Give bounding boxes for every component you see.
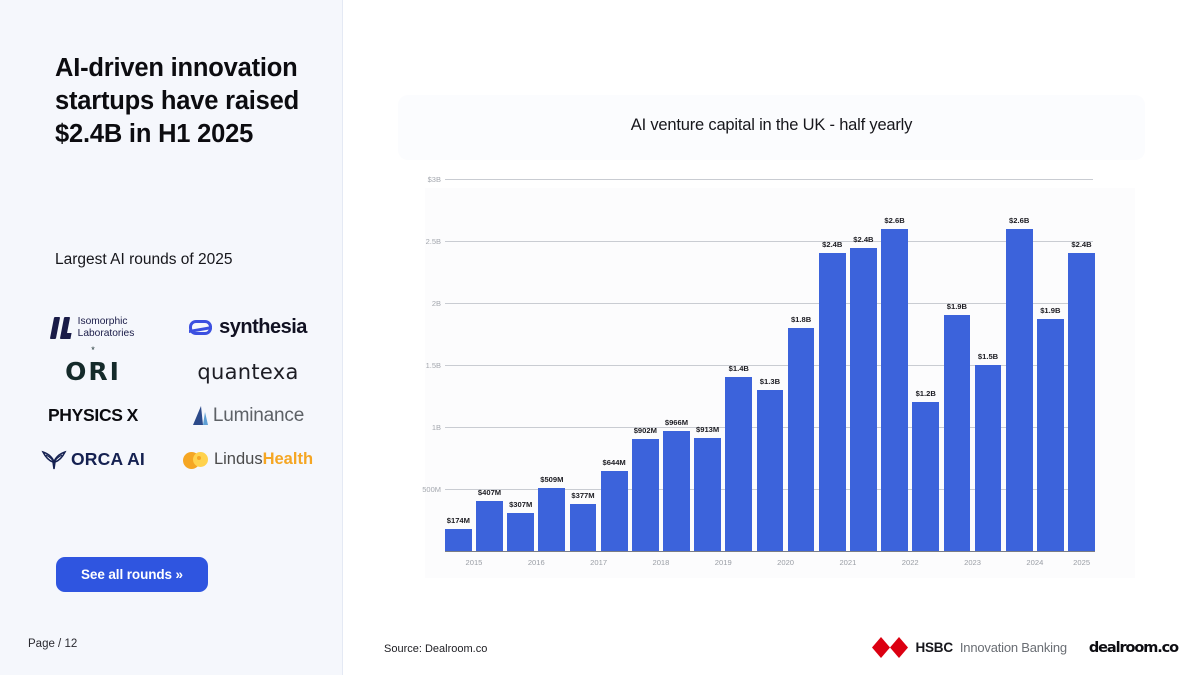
see-all-rounds-button[interactable]: See all rounds »	[56, 557, 208, 592]
orca-whale-tail-icon	[41, 449, 68, 471]
isomorphic-mark-icon	[52, 317, 71, 339]
bar-value-label: $1.9B	[1040, 306, 1060, 315]
y-axis-tick-label: $3B	[428, 175, 441, 184]
x-axis-labels: 2015201620172018201920202021202220232024…	[445, 558, 1095, 574]
bar-slot: $2.4B	[850, 179, 877, 551]
ori-wordmark: ORI	[65, 357, 121, 386]
bar-slot: $307M	[507, 179, 534, 551]
x-axis-tick-label: 2025	[1073, 558, 1090, 567]
x-axis-tick-label: 2016	[528, 558, 545, 567]
x-axis-tick-label: 2017	[590, 558, 607, 567]
slide-root: AI-driven innovation startups have raise…	[0, 0, 1200, 675]
luminance-wordmark: Luminance	[213, 405, 304, 427]
bar-value-label: $1.4B	[729, 364, 749, 373]
logo-quantexa[interactable]: quantexa	[168, 350, 328, 393]
bar-value-label: $1.2B	[916, 389, 936, 398]
bars-group: $174M$407M$307M$509M$377M$644M$902M$966M…	[445, 179, 1095, 551]
logo-hsbc-innovation-banking[interactable]: HSBC Innovation Banking	[872, 637, 1066, 658]
isomorphic-wordmark: Isomorphic Laboratories	[78, 316, 135, 339]
x-axis-tick-label: 2020	[777, 558, 794, 567]
logo-lindus-health[interactable]: LindusHealth	[168, 438, 328, 481]
orca-wordmark: ORCA AI	[71, 449, 145, 470]
bar-slot: $2.6B	[881, 179, 908, 551]
bar-value-label: $902M	[634, 426, 657, 435]
bar[interactable]	[944, 315, 971, 551]
bar-value-label: $644M	[603, 458, 626, 467]
x-axis-tick-label: 2021	[839, 558, 856, 567]
bar-slot: $2.4B	[819, 179, 846, 551]
bar-value-label: $966M	[665, 418, 688, 427]
bar-slot: $2.4B	[1068, 179, 1095, 551]
synthesia-mark-icon	[189, 320, 212, 335]
logo-dealroom[interactable]: dealroom.co	[1089, 640, 1178, 656]
bar[interactable]	[570, 504, 597, 551]
page-number: Page / 12	[28, 638, 77, 650]
physicsx-wordmark: PHYSICSX	[48, 405, 138, 426]
bar-slot: $1.9B	[944, 179, 971, 551]
footer-logos: HSBC Innovation Banking dealroom.co	[872, 637, 1178, 658]
isomorphic-line-2: Laboratories	[78, 328, 135, 339]
lindus-word-health: Health	[263, 450, 313, 469]
logo-physics-x[interactable]: PHYSICSX	[18, 394, 168, 437]
logo-isomorphic-laboratories[interactable]: Isomorphic Laboratories	[18, 306, 168, 349]
hsbc-hexagon-icon	[872, 637, 908, 658]
left-panel: AI-driven innovation startups have raise…	[0, 0, 343, 675]
y-axis-tick-label: 1B	[432, 423, 441, 432]
x-axis-tick-label: 2023	[964, 558, 981, 567]
ori-star-icon: *	[91, 345, 95, 355]
y-axis-tick-label: 2B	[432, 299, 441, 308]
bar-slot: $902M	[632, 179, 659, 551]
x-axis-tick-label: 2024	[1026, 558, 1043, 567]
bar-slot: $377M	[570, 179, 597, 551]
bar[interactable]	[819, 253, 846, 551]
y-axis-tick-label: 1.5B	[426, 361, 441, 370]
luminance-sail-icon	[192, 406, 209, 426]
bar-slot: $1.2B	[912, 179, 939, 551]
bar-chart[interactable]: 500M1B1.5B2B2.5B$3B $174M$407M$307M$509M…	[383, 160, 1148, 600]
bar-slot: $1.5B	[975, 179, 1002, 551]
bar[interactable]	[1068, 253, 1095, 551]
logo-grid: Isomorphic Laboratories synthesia * ORI	[18, 306, 328, 481]
bar[interactable]	[757, 390, 784, 551]
physicsx-word: PHYSICS	[48, 405, 123, 425]
bar-value-label: $174M	[447, 516, 470, 525]
x-axis-tick-label: 2018	[652, 558, 669, 567]
source-note: Source: Dealroom.co	[384, 643, 487, 655]
bar-value-label: $1.8B	[791, 315, 811, 324]
bar-value-label: $913M	[696, 425, 719, 434]
bar[interactable]	[1006, 229, 1033, 551]
bar-slot: $913M	[694, 179, 721, 551]
bar-slot: $2.6B	[1006, 179, 1033, 551]
y-axis-tick-label: 500M	[422, 485, 441, 494]
bar-slot: $644M	[601, 179, 628, 551]
x-axis-tick-label: 2019	[715, 558, 732, 567]
bar-value-label: $2.6B	[884, 216, 904, 225]
logo-ori[interactable]: * ORI	[18, 350, 168, 393]
bar-value-label: $407M	[478, 488, 501, 497]
bar-value-label: $307M	[509, 500, 532, 509]
bar-value-label: $377M	[571, 491, 594, 500]
bar[interactable]	[445, 529, 472, 551]
hsbc-tagline: Innovation Banking	[960, 640, 1067, 655]
page-title: AI-driven innovation startups have raise…	[55, 52, 305, 151]
bar-slot: $1.9B	[1037, 179, 1064, 551]
bar[interactable]	[663, 431, 690, 551]
bar[interactable]	[538, 488, 565, 551]
x-axis-tick-label: 2015	[466, 558, 483, 567]
synthesia-wordmark: synthesia	[219, 316, 307, 339]
bar[interactable]	[788, 328, 815, 551]
bar-value-label: $2.6B	[1009, 216, 1029, 225]
bar[interactable]	[507, 513, 534, 551]
logo-luminance[interactable]: Luminance	[168, 394, 328, 437]
quantexa-wordmark: quantexa	[197, 360, 298, 384]
bar-slot: $174M	[445, 179, 472, 551]
bar[interactable]	[725, 377, 752, 551]
lindus-word-lindus: Lindus	[214, 450, 263, 469]
lindus-circles-icon	[183, 450, 208, 470]
bar-value-label: $1.3B	[760, 377, 780, 386]
bar-value-label: $1.5B	[978, 352, 998, 361]
hsbc-wordmark: HSBC	[915, 640, 952, 655]
bar[interactable]	[975, 365, 1002, 551]
chart-title: AI venture capital in the UK - half year…	[343, 116, 1200, 135]
bar[interactable]	[632, 439, 659, 551]
bar-slot: $1.4B	[725, 179, 752, 551]
isomorphic-line-1: Isomorphic	[78, 316, 128, 327]
bar-slot: $966M	[663, 179, 690, 551]
y-axis-tick-label: 2.5B	[426, 237, 441, 246]
bar-value-label: $2.4B	[822, 240, 842, 249]
bar-slot: $1.3B	[757, 179, 784, 551]
chart-panel: AI venture capital in the UK - half year…	[343, 0, 1200, 675]
logo-orca-ai[interactable]: ORCA AI	[18, 438, 168, 481]
subtitle: Largest AI rounds of 2025	[55, 250, 325, 270]
bar-slot: $1.8B	[788, 179, 815, 551]
bar[interactable]	[881, 229, 908, 551]
bar-value-label: $509M	[540, 475, 563, 484]
bar[interactable]	[850, 248, 877, 551]
bar-slot: $509M	[538, 179, 565, 551]
bar-value-label: $1.9B	[947, 302, 967, 311]
bar[interactable]	[1037, 319, 1064, 551]
bar-value-label: $2.4B	[1071, 240, 1091, 249]
logo-synthesia[interactable]: synthesia	[168, 306, 328, 349]
bar-slot: $407M	[476, 179, 503, 551]
bar[interactable]	[912, 402, 939, 551]
bar[interactable]	[476, 501, 503, 551]
bar-value-label: $2.4B	[853, 235, 873, 244]
bar[interactable]	[694, 438, 721, 551]
x-axis-tick-label: 2022	[902, 558, 919, 567]
physicsx-x: X	[127, 405, 138, 425]
bar[interactable]	[601, 471, 628, 551]
